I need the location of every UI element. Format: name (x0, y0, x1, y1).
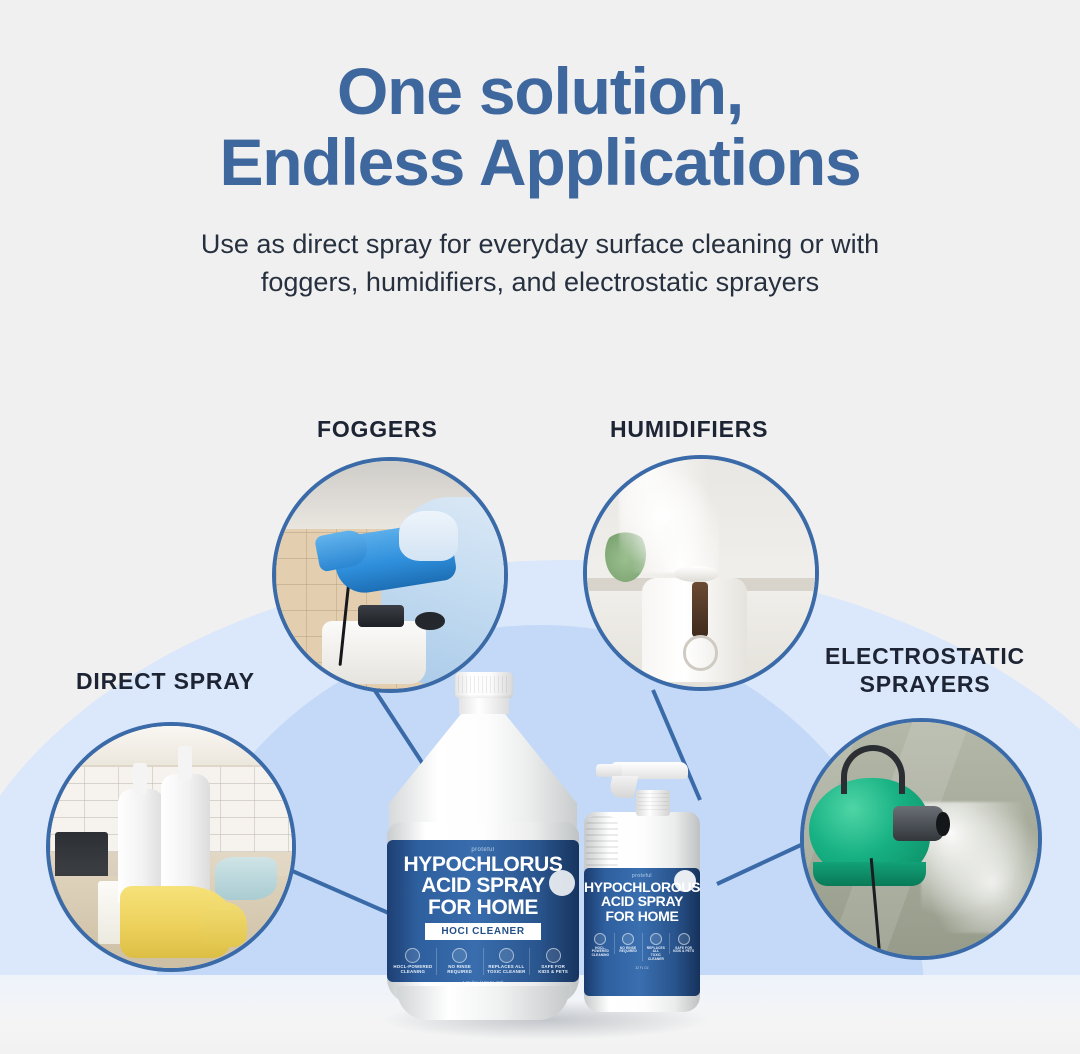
spray-badge-hocl-powered: HOCL-POWERED CLEANING (587, 933, 614, 958)
node-label-foggers: FOGGERS (317, 416, 438, 444)
photo-green-electrostatic-sprayer (804, 722, 1038, 956)
gallon-label: proteful HYPOCHLORUS ACID SPRAY FOR HOME… (387, 840, 579, 982)
headline-line-2: Endless Applications (0, 127, 1080, 198)
spray-badges: HOCL-POWERED CLEANING NO RINSE REQUIRED … (584, 933, 700, 961)
spray-badge-replaces-toxic: REPLACES ALL TOXIC CLEANER (642, 933, 670, 961)
spray-trigger-lever[interactable] (608, 776, 639, 798)
node-label-electrostatic-sprayers: ELECTROSTATIC SPRAYERS (810, 643, 1040, 698)
spray-volume: 32 FL OZ (584, 966, 700, 970)
circle-foggers[interactable] (272, 457, 508, 693)
gallon-badge-3-line-2: TOXIC CLEANER (487, 969, 525, 974)
page-subtitle: Use as direct spray for everyday surface… (110, 225, 970, 302)
spray-badge-3-line-2: TOXIC CLEANER (648, 953, 664, 961)
spray-badge-4-line-2: KIDS & PETS (673, 949, 694, 953)
photo-ultrasonic-humidifier-mist (587, 459, 815, 687)
gallon-badges: HOCL-POWERED CLEANING NO RINSE REQUIRED … (387, 948, 579, 975)
spray-badge-no-rinse: NO RINSE REQUIRED (614, 933, 642, 954)
splash-icon (549, 870, 575, 896)
droplet-icon (452, 948, 467, 963)
gallon-badge-1-line-2: CLEANING (401, 969, 426, 974)
spray-grip-texture (586, 816, 618, 872)
headline-line-1: One solution, (0, 56, 1080, 127)
jug-shoulder (389, 710, 577, 836)
circle-electrostatic-sprayers[interactable] (800, 718, 1042, 960)
jug-cap[interactable] (455, 672, 513, 698)
node-label-electrostatic-line-1: ELECTROSTATIC (825, 643, 1025, 669)
gallon-badge-2-line-2: REQUIRED (447, 969, 472, 974)
spray-badge-2-line-2: REQUIRED (619, 949, 637, 953)
spray-bottle-icon (650, 933, 662, 945)
gallon-badge-safe-kids-pets: SAFE FOR KIDS & PETS (529, 948, 576, 975)
gallon-title-line-3: FOR HOME (387, 897, 579, 918)
spray-badge-1-line-2: CLEANING (592, 953, 609, 957)
circle-direct-spray[interactable] (46, 722, 296, 972)
gallon-badge-no-rinse: NO RINSE REQUIRED (436, 948, 483, 975)
subhead-line-2: foggers, humidifiers, and electrostatic … (110, 263, 970, 301)
spray-collar (636, 790, 670, 816)
spray-label: proteful HYPOCHLOROUS ACID SPRAY FOR HOM… (584, 868, 700, 996)
spray-title-line-3: FOR HOME (584, 909, 700, 923)
shield-icon (678, 933, 690, 945)
node-label-direct-spray: DIRECT SPRAY (76, 668, 255, 696)
spray-trigger-head[interactable] (590, 760, 694, 816)
spray-title-line-2: ACID SPRAY (584, 894, 700, 908)
spray-badge-safe-kids-pets: SAFE FOR KIDS & PETS (669, 933, 697, 954)
shield-icon (546, 948, 561, 963)
gallon-title-line-1: HYPOCHLORUS (387, 854, 579, 875)
photo-handheld-fogger-blue-ppe (276, 461, 504, 689)
page-title: One solution, Endless Applications (0, 56, 1080, 199)
gallon-volume: 1 Gallon (128 FL OZ) (387, 980, 579, 982)
product-gallon-jug[interactable]: proteful HYPOCHLORUS ACID SPRAY FOR HOME… (383, 672, 583, 1020)
gallon-badge-replaces-toxic: REPLACES ALL TOXIC CLEANER (483, 948, 530, 975)
gallon-badge-4-line-2: KIDS & PETS (538, 969, 568, 974)
sparkle-icon (594, 933, 606, 945)
photo-kitchen-spray-bottles-gloves (50, 726, 292, 968)
spray-bottle-icon (499, 948, 514, 963)
subhead-line-1: Use as direct spray for everyday surface… (110, 225, 970, 263)
jug-bottom (397, 986, 569, 1020)
circle-humidifiers[interactable] (583, 455, 819, 691)
gallon-badge-hocl-powered: HOCL-POWERED CLEANING (390, 948, 436, 975)
header: One solution, Endless Applications Use a… (0, 56, 1080, 301)
spray-brand: proteful (584, 873, 700, 879)
product-spray-bottle[interactable]: proteful HYPOCHLOROUS ACID SPRAY FOR HOM… (576, 760, 706, 1018)
node-label-electrostatic-line-2: SPRAYERS (860, 671, 991, 697)
gallon-subtitle: HOCI CLEANER (425, 923, 541, 940)
gallon-brand: proteful (387, 847, 579, 853)
droplet-icon (622, 933, 634, 945)
sparkle-icon (405, 948, 420, 963)
node-label-humidifiers: HUMIDIFIERS (610, 416, 768, 444)
